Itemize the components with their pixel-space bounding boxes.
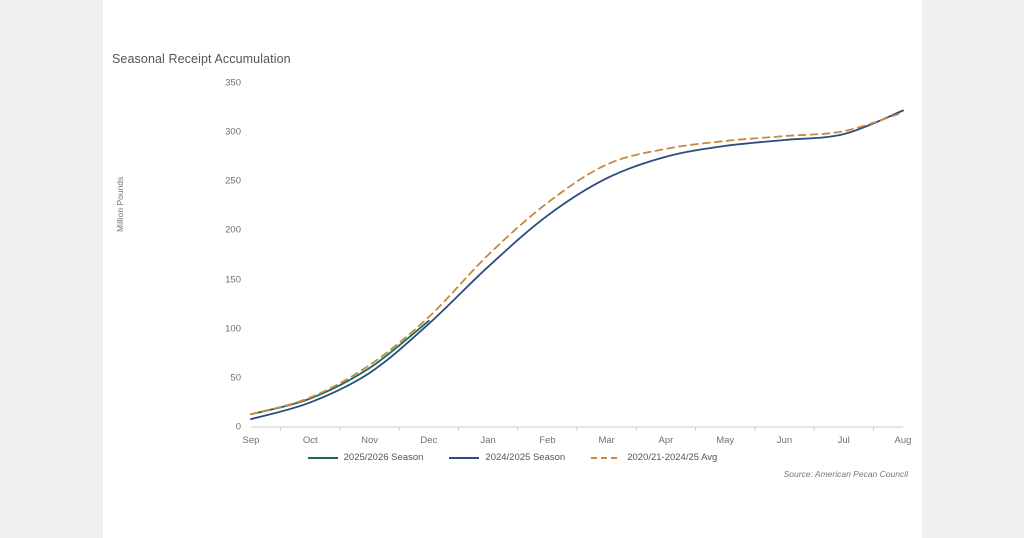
plot-area: 050100150200250300350 SepOctNovDecJanFeb… (103, 72, 922, 444)
y-tick-label: 200 (211, 225, 241, 236)
legend-swatch-icon (308, 453, 338, 463)
y-tick-label: 350 (211, 78, 241, 89)
chart-legend: 2025/2026 Season2024/2025 Season2020/21-… (103, 452, 922, 463)
x-tick-label: May (701, 435, 749, 446)
legend-item[interactable]: 2024/2025 Season (449, 452, 565, 463)
series-line (251, 321, 429, 414)
legend-label: 2024/2025 Season (485, 452, 565, 463)
legend-label: 2025/2026 Season (344, 452, 424, 463)
legend-swatch-icon (591, 453, 621, 463)
y-tick-label: 50 (211, 372, 241, 383)
x-tick-label: Feb (523, 435, 571, 446)
legend-item[interactable]: 2020/21-2024/25 Avg (591, 452, 717, 463)
x-tick-label: Apr (642, 435, 690, 446)
x-tick-label: Sep (227, 435, 275, 446)
y-tick-label: 300 (211, 127, 241, 138)
legend-label: 2020/21-2024/25 Avg (627, 452, 717, 463)
legend-item[interactable]: 2025/2026 Season (308, 452, 424, 463)
x-tick-label: Jul (820, 435, 868, 446)
chart-title: Seasonal Receipt Accumulation (112, 52, 291, 66)
x-tick-label: Nov (346, 435, 394, 446)
x-tick-label: Dec (405, 435, 453, 446)
y-tick-label: 100 (211, 323, 241, 334)
axis-ticks (281, 427, 874, 431)
series-lines (251, 111, 903, 420)
x-tick-label: Mar (583, 435, 631, 446)
source-note: Source: American Pecan Council (784, 469, 908, 479)
series-line (251, 112, 903, 414)
x-tick-label: Oct (286, 435, 334, 446)
legend-swatch-icon (449, 453, 479, 463)
series-line (251, 111, 903, 420)
x-tick-label: Jan (464, 435, 512, 446)
y-tick-label: 150 (211, 274, 241, 285)
screenshot-root: Seasonal Receipt Accumulation Million Po… (0, 0, 1024, 538)
y-tick-label: 250 (211, 176, 241, 187)
x-tick-label: Jun (760, 435, 808, 446)
x-tick-label: Aug (879, 435, 927, 446)
y-tick-label: 0 (211, 422, 241, 433)
chart-card: Seasonal Receipt Accumulation Million Po… (103, 0, 922, 538)
